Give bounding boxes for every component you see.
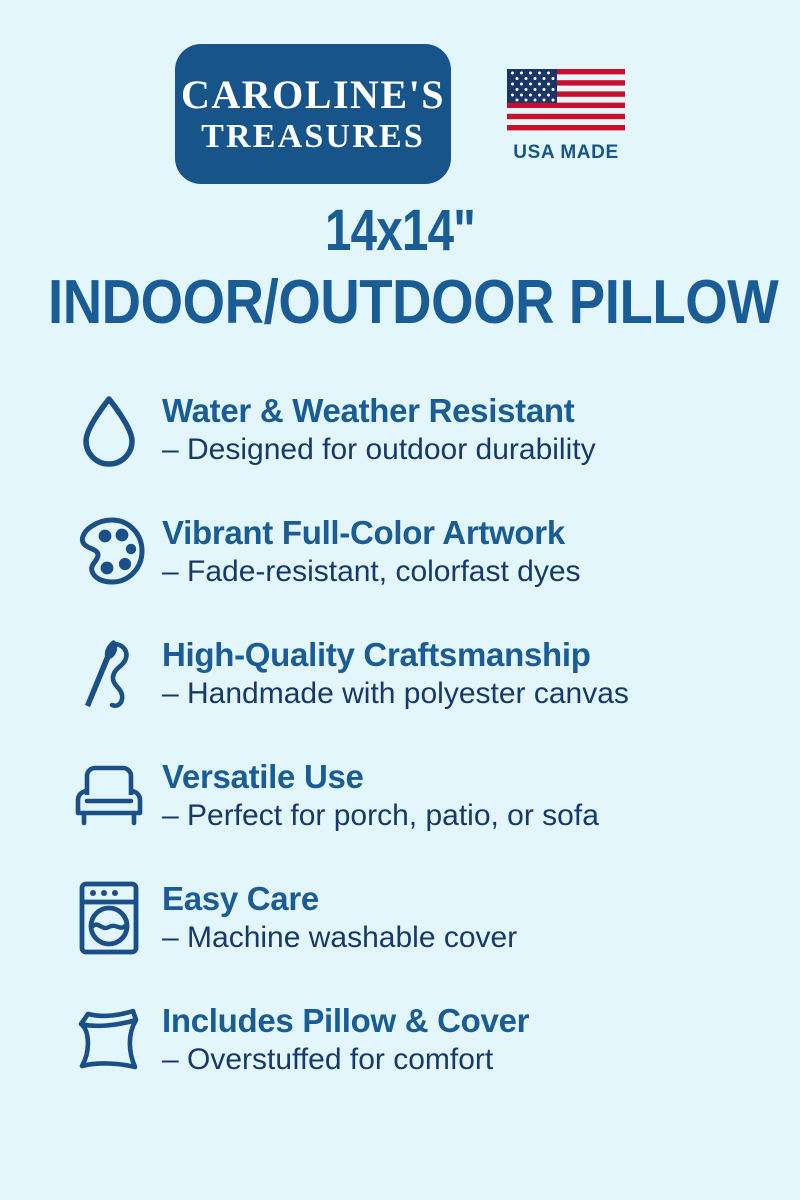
feature-list: Water & Weather Resistant – Designed for… [0,369,800,1101]
feature-text: Vibrant Full-Color Artwork – Fade-resist… [148,515,581,590]
pillow-icon [70,1001,148,1079]
feature-row: Includes Pillow & Cover – Overstuffed fo… [70,979,800,1101]
water-drop-icon [70,391,148,469]
caroline-treasures-logo: CAROLINE'S TREASURES [175,44,451,184]
washing-machine-icon [70,879,148,957]
feature-row: Versatile Use – Perfect for porch, patio… [70,735,800,857]
product-main-title: INDOOR/OUTDOOR PILLOW [48,270,752,335]
feature-title: Vibrant Full-Color Artwork [162,515,581,552]
header: CAROLINE'S TREASURES USA MADE [0,0,800,184]
product-title-block: 14x14" INDOOR/OUTDOOR PILLOW [0,202,800,335]
feature-text: Water & Weather Resistant – Designed for… [148,393,596,468]
feature-title: Water & Weather Resistant [162,393,596,430]
feature-row: Vibrant Full-Color Artwork – Fade-resist… [70,491,800,613]
feature-title: Versatile Use [162,759,599,796]
feature-title: Easy Care [162,881,517,918]
paint-palette-icon [70,513,148,591]
feature-text: High-Quality Craftsmanship – Handmade wi… [148,637,629,712]
feature-text: Versatile Use – Perfect for porch, patio… [148,759,599,834]
usa-made-badge: USA MADE [507,69,625,164]
feature-row: Water & Weather Resistant – Designed for… [70,369,800,491]
needle-thread-icon [70,635,148,713]
usa-made-label: USA MADE [513,142,618,164]
logo-line-two: TREASURES [201,116,425,159]
logo-line-one: CAROLINE'S [181,74,445,116]
usa-flag-icon [507,69,625,133]
feature-subtitle: – Overstuffed for comfort [162,1042,529,1078]
feature-subtitle: – Handmade with polyester canvas [162,676,629,712]
feature-title: High-Quality Craftsmanship [162,637,629,674]
feature-subtitle: – Perfect for porch, patio, or sofa [162,798,599,834]
feature-row: High-Quality Craftsmanship – Handmade wi… [70,613,800,735]
feature-subtitle: – Fade-resistant, colorfast dyes [162,554,581,590]
feature-row: Easy Care – Machine washable cover [70,857,800,979]
feature-subtitle: – Machine washable cover [162,920,517,956]
feature-subtitle: – Designed for outdoor durability [162,432,596,468]
armchair-icon [70,757,148,835]
feature-text: Easy Care – Machine washable cover [148,881,517,956]
feature-title: Includes Pillow & Cover [162,1003,529,1040]
product-size-title: 14x14" [72,202,728,260]
feature-text: Includes Pillow & Cover – Overstuffed fo… [148,1003,529,1078]
